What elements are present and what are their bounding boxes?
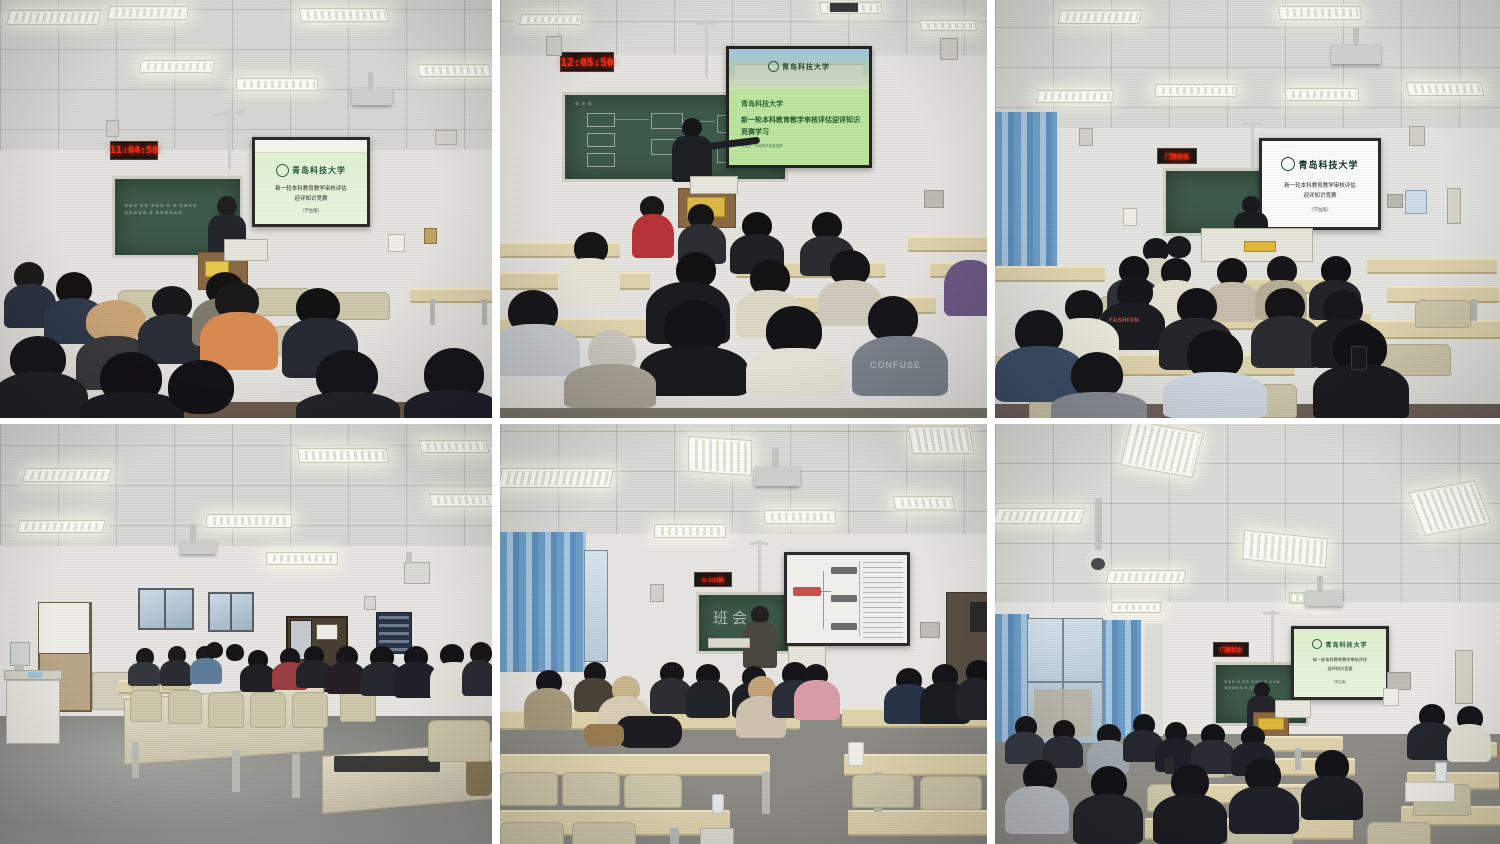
audience-body-red-coat <box>632 214 674 258</box>
audience-head <box>168 360 234 414</box>
projector-screen: 青岛科技大学 新一轮本科教育教学审核评估 迎评知识竞赛 （学生版） <box>252 137 370 227</box>
slide-footer: 教务处 · 本科教学质量保障 <box>741 144 863 149</box>
teacher-console <box>1275 700 1311 718</box>
wall-device <box>404 562 430 584</box>
university-seal-icon <box>1281 157 1295 171</box>
wall-speaker <box>650 584 664 602</box>
chalkboard-text: ※ ※ ※ <box>575 101 592 108</box>
door-upper-panel <box>38 602 90 654</box>
wall-panel <box>1447 188 1461 224</box>
led-sign-value: G-235栋 <box>702 576 724 584</box>
student-body <box>1073 794 1143 844</box>
audience-body <box>0 372 88 418</box>
seat <box>1367 822 1431 844</box>
audience-body <box>404 390 492 418</box>
slide-university-name: 青岛科技大学 <box>1298 158 1358 171</box>
desk-leg <box>670 828 679 844</box>
projector-mount <box>772 448 779 468</box>
student-body <box>190 658 222 684</box>
console-plate <box>1244 241 1276 252</box>
ceiling-light <box>1278 6 1361 20</box>
ceiling-light <box>22 468 112 482</box>
audience-body <box>746 348 844 396</box>
desk-row <box>848 810 987 836</box>
ceiling-grid <box>0 424 492 566</box>
door-sign <box>316 624 338 640</box>
ceiling-light <box>266 552 338 565</box>
desk-leg <box>132 742 139 778</box>
mindmap-root-node <box>793 587 821 596</box>
water-bottle <box>712 794 724 814</box>
student-body <box>794 680 840 720</box>
wall-poster <box>1405 190 1427 214</box>
ceiling-pipe <box>1243 122 1261 125</box>
seat <box>500 772 558 806</box>
ceiling-pipe <box>228 108 231 170</box>
camera-mount <box>406 552 412 564</box>
seat <box>292 692 328 728</box>
seat <box>920 776 982 810</box>
window-curtain <box>500 532 586 672</box>
slide-title-line2: 迎评知识竞赛 <box>1266 191 1374 199</box>
seat <box>428 720 490 762</box>
desk-item <box>334 756 440 772</box>
slide-university-logo: 青岛科技大学 <box>1262 157 1378 171</box>
jacket-print: FASHION <box>1109 318 1139 324</box>
led-sign-value: 门禁状态 <box>1165 152 1189 161</box>
ceiling-light <box>908 426 975 454</box>
ceiling-light <box>6 10 102 25</box>
seat <box>572 822 636 844</box>
desk-row <box>844 754 987 776</box>
audience-body <box>500 324 580 376</box>
interior-window <box>138 588 194 630</box>
teacher-console <box>224 239 268 261</box>
slide-university-logo: 青岛科技大学 <box>255 164 367 177</box>
student-body <box>462 660 492 696</box>
photo-panel-top-right[interactable]: 门禁状态 青岛科技大学 新一轮本科教育教学审核评估 迎评知识竞赛 （学生版） <box>995 0 1500 418</box>
student-body <box>1005 786 1069 834</box>
slide-subtitle: （学生版） <box>1266 207 1374 213</box>
audience-body <box>1313 364 1409 418</box>
ceiling-light <box>297 448 389 463</box>
university-seal-icon <box>1312 639 1322 649</box>
wall-fixture <box>364 596 376 610</box>
projector-mount <box>1317 576 1323 592</box>
slide-title-line2: 迎评知识竞赛 <box>1297 666 1383 672</box>
projector <box>180 540 216 554</box>
chalkboard-text: ※※※ ※※ ※※※ ※ ※ ※※※※ ※※※※※ ※ ※※※※※※ <box>124 203 197 217</box>
camera-lens-icon <box>1091 558 1105 570</box>
ceiling-light <box>107 6 189 20</box>
ceiling-light <box>1406 82 1485 96</box>
ceiling-light <box>16 520 105 533</box>
jacket-print-text: CONFUSE <box>870 360 921 370</box>
teacher-console <box>6 680 60 744</box>
projector-screen <box>784 552 910 646</box>
university-seal-icon <box>768 61 779 72</box>
desk-row <box>1367 258 1497 274</box>
ceiling-light <box>519 14 583 25</box>
wall-notice <box>1383 688 1399 706</box>
wall-outlet <box>1387 194 1403 208</box>
ceiling-light <box>1110 602 1161 613</box>
ceiling-pipe <box>750 542 768 545</box>
interior-window <box>208 592 254 632</box>
trash-bin <box>466 760 492 796</box>
camera-pole <box>1095 498 1102 556</box>
audience-body <box>640 346 748 396</box>
ceiling-light <box>206 514 292 528</box>
open-notebook <box>1405 782 1455 802</box>
student-body <box>1447 724 1491 762</box>
student-body <box>686 680 730 718</box>
student-body <box>1153 794 1227 844</box>
student-body <box>240 664 276 692</box>
board-tray <box>708 638 750 648</box>
ceiling-light <box>995 508 1086 524</box>
smartphone <box>1351 346 1367 370</box>
audience-body <box>564 364 656 408</box>
ceiling-light <box>236 78 319 91</box>
desk-item <box>700 828 734 844</box>
led-sign: 门禁状态 <box>1213 642 1249 657</box>
console-item <box>28 672 42 678</box>
seat <box>624 774 682 808</box>
projector <box>1305 590 1343 606</box>
led-sign-value: 门禁状态 <box>1220 646 1242 654</box>
wall-speaker <box>1409 126 1425 146</box>
ceiling-light <box>654 524 726 538</box>
slide-title-line1: 新一轮本科教育教学审核评估 <box>259 184 363 192</box>
wall-notice <box>1123 208 1137 226</box>
projector-screen: 青岛科技大学 青岛科技大学 新一轮本科教育教学审核评估迎评知识 竞赛学习 教务处… <box>726 46 872 168</box>
slide-subtitle: （学生版） <box>259 208 363 214</box>
ceiling-light <box>1106 570 1187 584</box>
ceiling-light <box>299 8 389 22</box>
desk-leg <box>430 299 435 325</box>
ceiling-light <box>417 64 491 77</box>
student-body <box>160 660 192 686</box>
projector-mount <box>190 524 196 542</box>
slide-subtitle: （学生版） <box>1297 679 1383 684</box>
teacher-console <box>1201 228 1313 262</box>
projector <box>352 88 392 105</box>
projector <box>1331 44 1381 64</box>
audience-head <box>1167 236 1191 258</box>
slide-university-logo: 青岛科技大学 <box>1294 639 1386 649</box>
teacher-console <box>690 176 738 194</box>
door-window <box>970 602 987 632</box>
wall-speaker <box>546 36 562 56</box>
window-curtain <box>995 112 1057 272</box>
slide-title-line1: 新一轮本科教育教学审核评估 <box>1297 657 1383 663</box>
seat <box>168 690 202 724</box>
chalk-box <box>587 113 615 127</box>
audience-body <box>296 392 400 418</box>
wall-speaker <box>940 38 958 60</box>
seat <box>500 822 564 844</box>
projector-mount <box>368 72 373 90</box>
photo-collage: 11:04:58 ※※※ ※※ ※※※ ※ ※ ※※※※ ※※※※※ ※ ※※※… <box>0 0 1500 844</box>
photo-panel-bottom-right[interactable]: 门禁状态 ※※※ ※ ※※ ※※※ ※ ※※※ ※※※※※ ※ ※※※※ 青岛科… <box>995 424 1500 844</box>
photo-panel-bottom-left[interactable] <box>0 424 492 844</box>
desk-leg <box>1471 299 1477 321</box>
mindmap-leaf-lines <box>863 560 903 638</box>
student-head <box>226 644 244 661</box>
wall-speaker <box>1079 128 1093 146</box>
wall-fixture <box>435 130 457 145</box>
photo-panel-top-left[interactable]: 11:04:58 ※※※ ※※ ※※※ ※ ※ ※※※※ ※※※※※ ※ ※※※… <box>0 0 492 418</box>
ceiling-light <box>1036 90 1114 103</box>
wall-outlet <box>924 190 944 208</box>
seat <box>562 772 620 806</box>
desk-leg <box>762 772 770 814</box>
projector-screen: 青岛科技大学 新一轮本科教育教学审核评估 迎评知识竞赛 （学生版） <box>1259 138 1381 230</box>
wall-notice <box>388 234 405 252</box>
ceiling-light <box>139 60 215 73</box>
student-body <box>128 662 160 686</box>
student-body <box>1229 786 1299 834</box>
ceiling-light <box>1285 88 1360 101</box>
chalk-box <box>587 133 615 147</box>
led-sign: G-235栋 <box>694 572 732 587</box>
slide-university-name: 青岛科技大学 <box>292 165 346 176</box>
ceiling-light <box>688 436 752 476</box>
slide-university-name: 青岛科技大学 <box>782 62 830 72</box>
seat <box>130 690 162 722</box>
wall-speaker <box>106 120 119 137</box>
audience-body <box>1051 392 1147 418</box>
student-body <box>956 678 987 720</box>
student-body <box>524 688 572 730</box>
led-sign: 门禁状态 <box>1157 148 1197 164</box>
led-clock: 11:04:58 <box>110 141 158 160</box>
ceiling-pipe <box>1271 610 1274 664</box>
podium-plate <box>1258 718 1284 730</box>
ceiling-light <box>1155 84 1238 97</box>
audience-body <box>944 260 987 316</box>
instructor <box>742 606 778 666</box>
projector <box>754 466 800 486</box>
desk-leg <box>232 750 240 792</box>
seat <box>1415 300 1471 328</box>
ceiling-light <box>418 440 489 453</box>
seat <box>852 774 914 808</box>
ceiling-light <box>919 20 977 31</box>
seat <box>208 692 244 728</box>
slide-title-line1: 新一轮本科教育教学审核评估迎评知识 <box>741 115 863 125</box>
slide-university-name: 青岛科技大学 <box>1325 640 1367 649</box>
chalk-box <box>587 153 615 167</box>
thermos <box>1165 758 1174 774</box>
slide-title-line1: 新一轮本科教育教学审核评估 <box>1266 181 1374 189</box>
bag <box>584 724 624 746</box>
led-clock: 12:05:50 <box>560 52 614 72</box>
student-body <box>1301 776 1363 820</box>
desk-row <box>410 288 492 303</box>
desk-leg <box>292 754 300 798</box>
photo-panel-top-center[interactable]: 12:05:50 ※ ※ ※ <box>500 0 987 418</box>
slide-title-line2: 竞赛学习 <box>741 127 863 137</box>
ac-vent <box>830 3 858 12</box>
mindmap-node <box>831 567 857 574</box>
window-pane <box>584 550 608 662</box>
audience-body <box>558 258 620 304</box>
wall-panel <box>1455 650 1473 704</box>
led-clock-value: 11:04:58 <box>110 145 158 156</box>
backpack <box>616 716 682 748</box>
mindmap-node <box>831 595 857 602</box>
projector-screen: 青岛科技大学 新一轮本科教育教学审核评估 迎评知识竞赛 （学生版） <box>1291 626 1389 700</box>
water-bottle <box>1435 762 1447 782</box>
ceiling-pipe <box>705 20 708 78</box>
desk-row <box>995 266 1105 282</box>
wall-plaque <box>424 228 437 244</box>
ceiling-pipe <box>696 22 718 25</box>
monitor <box>10 642 30 666</box>
led-clock-value: 12:05:50 <box>561 56 614 69</box>
seat <box>250 692 286 728</box>
mindmap-node <box>831 623 857 630</box>
audience-body <box>1163 372 1267 418</box>
ceiling-light <box>893 496 956 510</box>
university-seal-icon <box>276 164 289 177</box>
photo-panel-bottom-center[interactable]: G-235栋 班会 <box>500 424 987 844</box>
ceiling-light <box>1058 10 1143 24</box>
student-head <box>206 642 223 658</box>
cup <box>848 742 864 766</box>
ceiling-light <box>764 510 837 524</box>
desk-leg <box>1295 748 1301 770</box>
ceiling-pipe <box>1263 612 1279 615</box>
desk-row <box>908 236 987 252</box>
ceiling-light <box>429 494 492 507</box>
projector-mount <box>1353 28 1359 46</box>
desk-leg <box>482 299 487 325</box>
ceiling-light <box>500 468 614 488</box>
wall-outlet <box>920 622 940 638</box>
slide-heading: 青岛科技大学 <box>741 99 783 109</box>
slide-title-line2: 迎评知识竞赛 <box>259 194 363 202</box>
